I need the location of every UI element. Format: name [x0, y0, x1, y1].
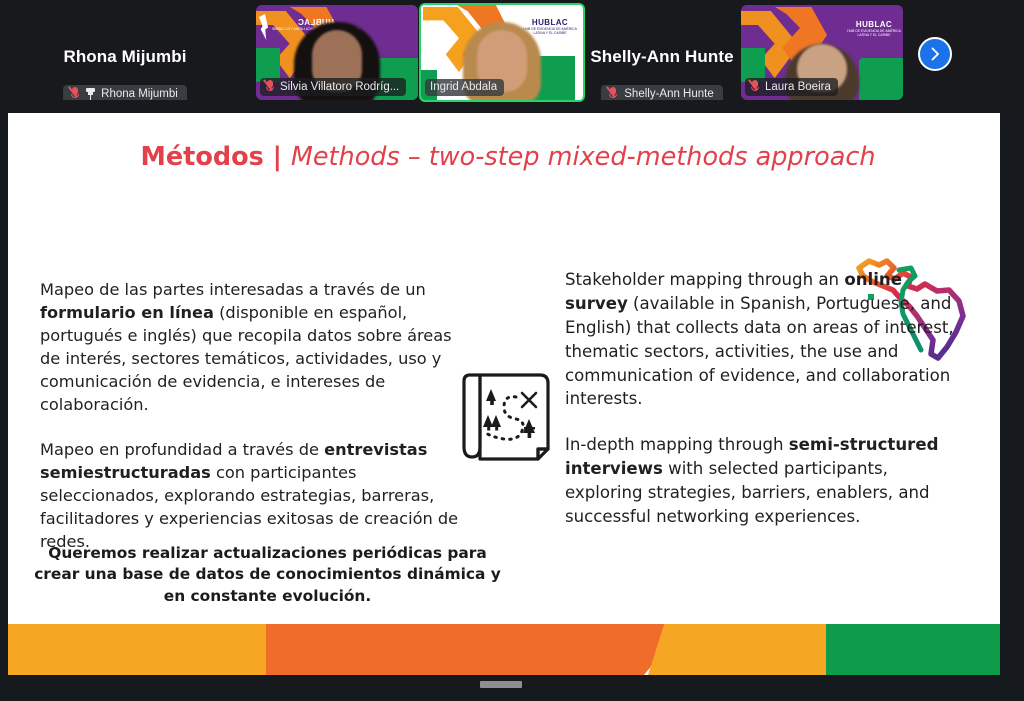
spanish-paragraph-1: Mapeo de las partes interesadas a través… — [40, 278, 470, 416]
participant-chip-label: Silvia Villatoro Rodríg... — [280, 81, 399, 93]
participant-chip-label: Shelly-Ann Hunte — [624, 88, 714, 100]
footer-segment-amber-right — [648, 624, 828, 675]
slide-title: Métodos | Methods – two-step mixed-metho… — [128, 141, 888, 173]
participant-display-name: Rhona Mijumbi — [30, 47, 220, 67]
participant-chip-label: Ingrid Abdala — [430, 81, 497, 93]
participant-display-name: Shelly-Ann Hunte — [586, 47, 738, 67]
mic-muted-icon — [265, 80, 275, 93]
es-p2-a: Mapeo en profundidad a través de — [40, 440, 324, 459]
english-paragraph-1: Stakeholder mapping through an online su… — [565, 268, 965, 411]
footer-segment-orange — [266, 624, 686, 675]
scroll-handle[interactable] — [480, 681, 522, 688]
chevron-right-icon — [927, 46, 943, 62]
participant-name-chip: Shelly-Ann Hunte — [586, 85, 738, 100]
participant-tile-shelly-ann-hunte[interactable]: Shelly-Ann Hunte Shelly-Ann Hunte — [586, 5, 738, 100]
mic-muted-icon — [750, 80, 760, 93]
en-p2-a: In-depth mapping through — [565, 435, 789, 454]
footer-segment-amber-left — [8, 624, 270, 675]
participant-name-chip: Laura Boeira — [745, 78, 838, 96]
participant-tile-silvia-villatoro[interactable]: HUBLAC HUB DE EVIDENCIA DE AMÉRICA LATIN… — [256, 5, 418, 100]
participant-chip-label: Rhona Mijumbi — [101, 88, 178, 100]
slide-title-english: Methods – two-step mixed-methods approac… — [291, 142, 876, 172]
next-participants-button[interactable] — [918, 37, 952, 71]
participant-tile-laura-boeira[interactable]: HUBLAC HUB DE EVIDENCIA DE AMÉRICA LATIN… — [741, 5, 903, 100]
mic-muted-icon — [608, 87, 618, 100]
spanish-paragraph-2: Mapeo en profundidad a través de entrevi… — [40, 438, 470, 553]
participant-filmstrip: Rhona Mijumbi Rhona Mijumbi HUBLAC HUB D… — [0, 0, 1024, 110]
en-p1-a: Stakeholder mapping through an — [565, 270, 844, 289]
participant-name-chip: Ingrid Abdala — [425, 79, 504, 96]
participant-chip-label: Laura Boeira — [765, 81, 831, 93]
participant-name-chip: Silvia Villatoro Rodríg... — [260, 78, 406, 96]
treasure-map-icon — [460, 365, 556, 469]
spanish-highlight-text: Queremos realizar actualizaciones periód… — [30, 543, 505, 607]
spanish-text-column: Mapeo de las partes interesadas a través… — [40, 278, 470, 575]
english-text-column: Stakeholder mapping through an online su… — [565, 268, 965, 551]
footer-segment-green — [826, 624, 1000, 675]
es-p1-a: Mapeo de las partes interesadas a través… — [40, 280, 426, 299]
slide-footer-bar — [8, 624, 1000, 675]
slide-title-spanish: Métodos | — [140, 142, 290, 172]
pin-icon — [86, 88, 95, 100]
participant-tile-rhona-mijumbi[interactable]: Rhona Mijumbi Rhona Mijumbi — [0, 5, 250, 100]
es-p1-bold: formulario en línea — [40, 303, 214, 322]
mic-muted-icon — [70, 87, 80, 100]
participant-tile-ingrid-abdala[interactable]: HUBLAC HUB DE EVIDENCIA DE AMÉRICA LATIN… — [421, 5, 583, 100]
presentation-slide[interactable]: Métodos | Methods – two-step mixed-metho… — [8, 113, 1000, 675]
participant-name-chip: Rhona Mijumbi — [30, 85, 220, 100]
english-paragraph-2: In-depth mapping through semi-structured… — [565, 433, 965, 529]
